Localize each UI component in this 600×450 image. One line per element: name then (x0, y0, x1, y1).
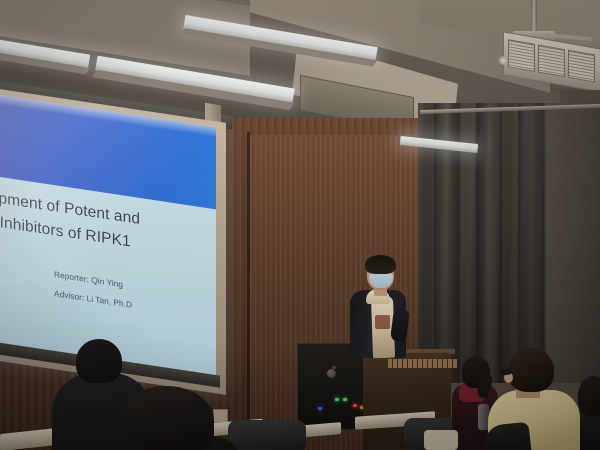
podium-signage (388, 359, 462, 368)
wall-outlet-plate (213, 409, 228, 423)
audience-desk-paper (424, 430, 458, 450)
audience-front-left-head (76, 339, 122, 383)
curtain-fold (476, 103, 502, 383)
curtain-fold (518, 103, 544, 383)
projector-vent-3 (568, 50, 595, 83)
projector-mount-pole (531, 0, 537, 34)
audience-yellow-shirt-head (508, 348, 554, 392)
wall-seam (247, 132, 250, 450)
speaker-vest-graphic (375, 315, 390, 329)
rack-indicator-blue (318, 407, 322, 410)
rack-indicator-green (335, 398, 339, 401)
audience-chair (228, 420, 306, 450)
rack-indicator-green-2 (343, 398, 347, 401)
rack-indicator-dim (332, 366, 336, 369)
audience-foreground-head (118, 386, 214, 450)
speaker-hair (365, 255, 396, 274)
rack-indicator-red (353, 404, 357, 407)
projector-vent-2 (538, 44, 565, 77)
audience-far-right-head (578, 376, 600, 416)
projector-lens (499, 56, 508, 65)
rack-knob (327, 369, 336, 378)
lecture-hall-photo: sed Development of Potent and e-II Kinas… (0, 0, 600, 450)
projector-vent-1 (508, 39, 535, 72)
curtain-right-section (546, 103, 600, 383)
